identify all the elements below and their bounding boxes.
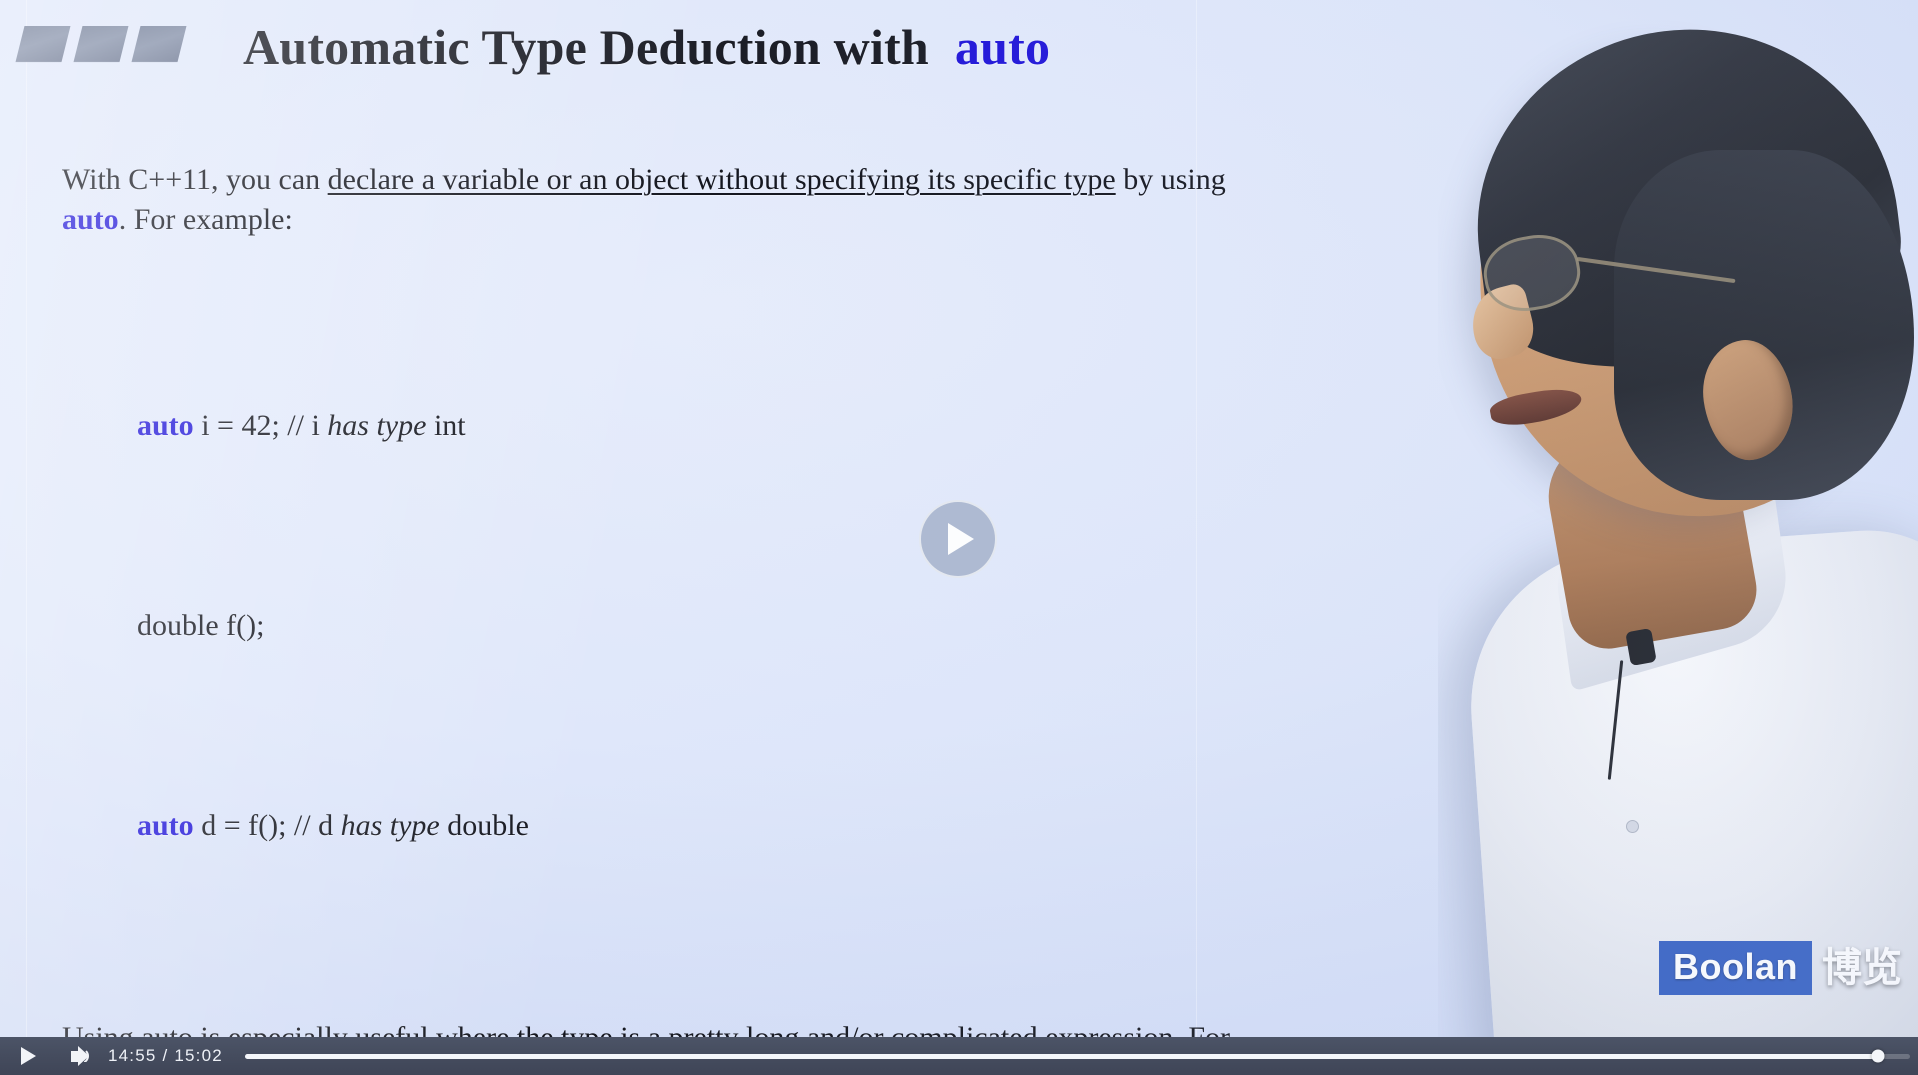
intro-seg-1: With C++11, you can: [62, 163, 328, 196]
progress-bar[interactable]: [245, 1037, 1910, 1075]
current-time: 14:55: [108, 1046, 157, 1065]
paragraph-intro: With C++11, you can declare a variable o…: [62, 160, 1292, 240]
code-text: double f();: [137, 609, 264, 642]
intro-underlined-phrase: declare a variable or an object without …: [328, 163, 1116, 196]
title-keyword-auto: auto: [955, 19, 1050, 75]
slide-title-bar: Automatic Type Deduction withauto: [0, 8, 1400, 94]
code-text: d = f();: [194, 809, 294, 842]
presenter-neck: [1539, 415, 1763, 655]
progress-fill: [245, 1054, 1878, 1059]
code-comment-pre: // i: [287, 409, 327, 442]
time-separator: /: [162, 1046, 168, 1065]
screen-seam-left: [26, 0, 27, 1037]
paragraph-usefulness: Using auto is especially useful where th…: [62, 1018, 1292, 1037]
volume-button[interactable]: [50, 1037, 100, 1075]
intro-seg-5: . For example:: [119, 203, 293, 236]
code-comment-pre: // d: [294, 809, 341, 842]
brand-name-cn: 博览: [1822, 948, 1902, 988]
presenter-video-overlay: [1438, 0, 1918, 1037]
title-main-text: Automatic Type Deduction with: [243, 19, 929, 75]
code-keyword-auto: auto: [137, 809, 194, 842]
presenter-collar: [1553, 488, 1794, 691]
code-keyword-auto: auto: [137, 409, 194, 442]
presenter-shirt-button: [1626, 820, 1639, 833]
page-title: Automatic Type Deduction withauto: [243, 18, 1050, 76]
brand-name-en: Boolan: [1659, 941, 1812, 995]
presenter-hair-back: [1614, 150, 1914, 500]
code-line-auto-i: auto i = 42; // i has type int: [62, 366, 1292, 486]
video-player: Automatic Type Deduction withauto With C…: [0, 0, 1918, 1075]
code-text: i = 42;: [194, 409, 288, 442]
decoration-square-icon: [16, 26, 71, 62]
time-display: 14:55 / 15:02: [108, 1046, 223, 1066]
play-icon: [948, 523, 974, 555]
code-line-double-f: double f();: [62, 566, 1292, 686]
code-comment-italic: has type: [341, 809, 440, 842]
slide-canvas: Automatic Type Deduction withauto With C…: [0, 0, 1918, 1037]
presenter-hair: [1455, 6, 1912, 385]
code-comment-italic: has type: [327, 409, 426, 442]
intro-keyword-auto: auto: [62, 203, 119, 236]
presenter-nose: [1464, 282, 1539, 364]
player-control-bar: 14:55 / 15:02: [0, 1037, 1918, 1075]
useful-underlined-phrase: especially useful where the type is a pr…: [228, 1021, 1174, 1037]
brand-logo: Boolan 博览: [1659, 941, 1902, 995]
code-line-auto-d: auto d = f(); // d has type double: [62, 766, 1292, 886]
code-comment-post: int: [426, 409, 465, 442]
decoration-square-icon: [132, 26, 187, 62]
presenter-lapel-microphone: [1625, 628, 1657, 666]
presenter-ear: [1696, 334, 1800, 465]
presenter-microphone-wire: [1608, 660, 1624, 780]
title-decoration-group: [20, 26, 190, 64]
code-block-basic-examples: auto i = 42; // i has type int double f(…: [62, 286, 1292, 966]
slide-body: With C++11, you can declare a variable o…: [62, 160, 1292, 1037]
useful-seg-1: Using auto is: [62, 1021, 228, 1037]
duration: 15:02: [174, 1046, 223, 1065]
center-play-button[interactable]: [919, 500, 997, 578]
intro-seg-3: by using: [1116, 163, 1226, 196]
progress-track[interactable]: [245, 1054, 1910, 1059]
presenter-glasses-arm: [1577, 257, 1736, 283]
progress-handle[interactable]: [1872, 1050, 1885, 1063]
play-icon: [21, 1047, 36, 1065]
presenter-mouth: [1488, 384, 1584, 430]
code-comment-post: double: [440, 809, 529, 842]
volume-icon: [71, 1051, 80, 1062]
presenter-head: [1457, 28, 1904, 537]
play-button[interactable]: [6, 1037, 50, 1075]
decoration-square-icon: [74, 26, 129, 62]
presenter-glasses-lens: [1478, 228, 1585, 318]
